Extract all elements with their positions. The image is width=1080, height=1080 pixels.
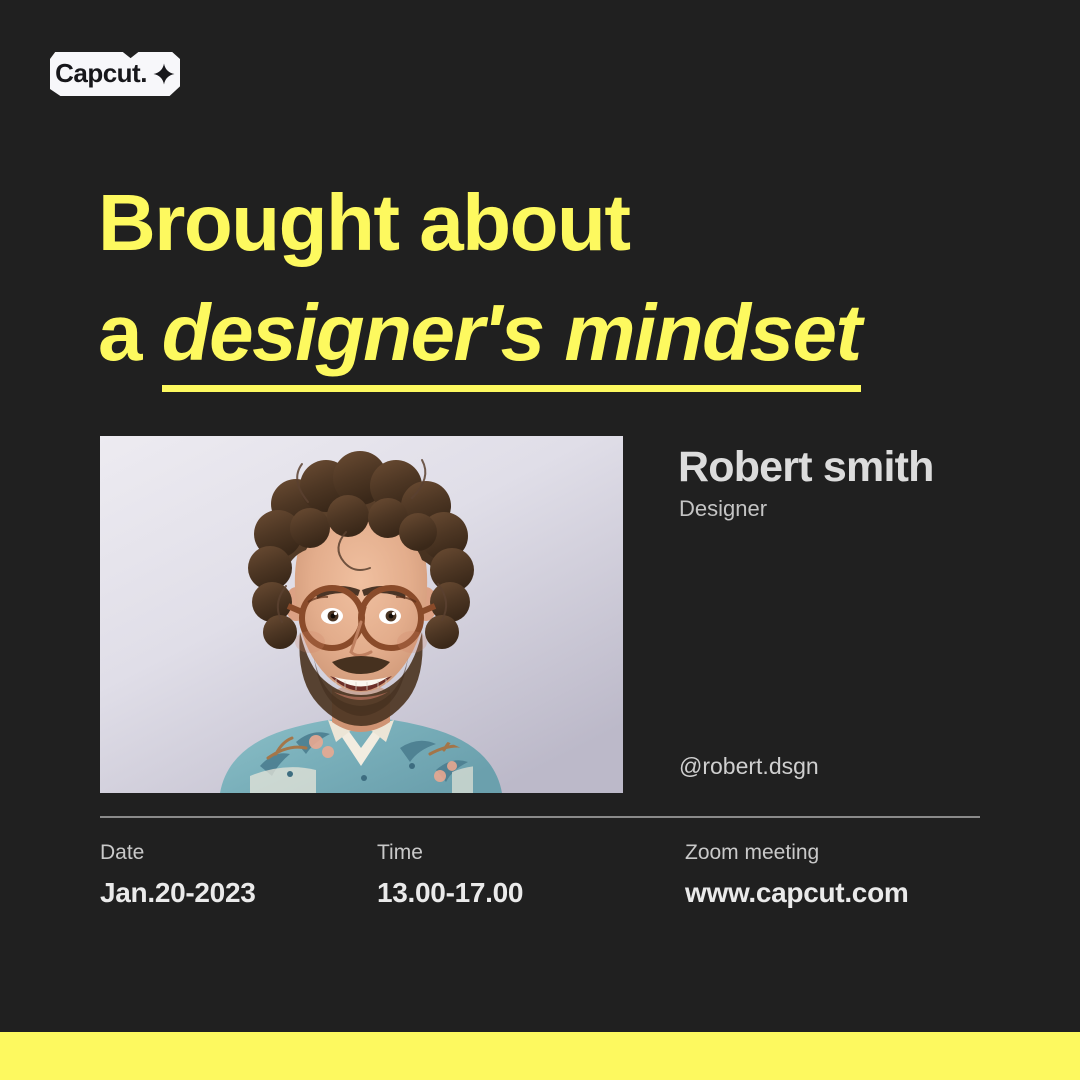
speaker-handle[interactable]: @robert.dsgn — [679, 755, 819, 778]
meta-value-zoom-url[interactable]: www.capcut.com — [685, 879, 980, 907]
event-poster: Capcut. Brought about a designer's minds… — [0, 0, 1080, 1080]
meta-column-time: Time 13.00-17.00 — [377, 842, 685, 907]
headline-line-2: a designer's mindset — [98, 278, 998, 392]
capcut-logo-badge[interactable]: Capcut. — [50, 52, 180, 96]
portrait-illustration — [100, 436, 623, 793]
meta-column-date: Date Jan.20-2023 — [100, 842, 377, 907]
headline-line-1: Brought about — [98, 168, 998, 278]
headline-emphasis: designer's mindset — [162, 291, 861, 392]
capcut-wordmark: Capcut. — [55, 60, 147, 86]
meta-value-time: 13.00-17.00 — [377, 879, 685, 907]
footer-meta-row: Date Jan.20-2023 Time 13.00-17.00 Zoom m… — [100, 842, 980, 907]
speaker-role: Designer — [679, 498, 767, 520]
speaker-name: Robert smith — [678, 446, 934, 489]
headline-line-2-prefix: a — [98, 288, 162, 377]
meta-label-time: Time — [377, 842, 685, 863]
footer-divider — [100, 816, 980, 818]
meta-column-zoom: Zoom meeting www.capcut.com — [685, 842, 980, 907]
meta-value-date: Jan.20-2023 — [100, 879, 377, 907]
meta-label-date: Date — [100, 842, 377, 863]
bottom-accent-bar — [0, 1032, 1080, 1080]
meta-label-zoom-meeting: Zoom meeting — [685, 842, 980, 863]
headline: Brought about a designer's mindset — [98, 168, 998, 392]
speaker-portrait — [100, 436, 623, 793]
four-point-star-icon — [153, 63, 175, 85]
